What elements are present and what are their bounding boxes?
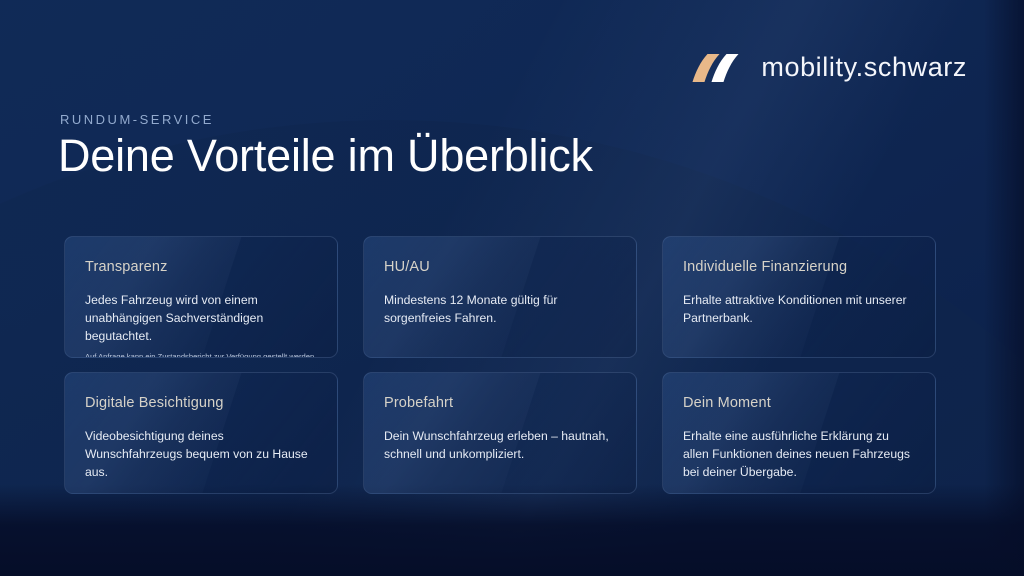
benefit-card: Individuelle Finanzierung Erhalte attrak… [662,236,936,358]
benefit-card-title: Digitale Besichtigung [85,395,317,411]
eyebrow-label: RUNDUM-SERVICE [60,112,214,127]
benefit-card: Probefahrt Dein Wunschfahrzeug erleben –… [363,372,637,494]
benefit-card-body: Erhalte eine ausführliche Erklärung zu a… [683,427,915,481]
benefit-card: Dein Moment Erhalte eine ausführliche Er… [662,372,936,494]
benefit-card: HU/AU Mindestens 12 Monate gültig für so… [363,236,637,358]
benefit-card: Transparenz Jedes Fahrzeug wird von eine… [64,236,338,358]
benefit-card-body: Videobesichtigung deines Wunschfahrzeugs… [85,427,317,481]
benefit-card-title: Dein Moment [683,395,915,411]
slide-canvas: mobility.schwarz RUNDUM-SERVICE Deine Vo… [0,0,1024,576]
benefit-card-footnote: Auf Anfrage kann ein Zustandsbericht zur… [85,352,317,358]
benefit-card-title: Individuelle Finanzierung [683,259,915,275]
page-title: Deine Vorteile im Überblick [58,131,593,181]
benefit-card-title: HU/AU [384,259,616,275]
brand-logo: mobility.schwarz [691,52,967,83]
benefit-card-body: Jedes Fahrzeug wird von einem unabhängig… [85,291,317,345]
benefit-card: Digitale Besichtigung Videobesichtigung … [64,372,338,494]
benefit-card-title: Probefahrt [384,395,616,411]
background-bottom-shade [0,484,1024,576]
benefit-card-grid: Transparenz Jedes Fahrzeug wird von eine… [64,236,936,494]
mobility-schwarz-double-slash-logo-icon [691,53,743,83]
benefit-card-title: Transparenz [85,259,317,275]
background-right-shade [984,0,1024,576]
benefit-card-body: Dein Wunschfahrzeug erleben – hautnah, s… [384,427,616,463]
brand-name: mobility.schwarz [761,52,967,83]
benefit-card-body: Erhalte attraktive Konditionen mit unser… [683,291,915,327]
benefit-card-body: Mindestens 12 Monate gültig für sorgenfr… [384,291,616,327]
